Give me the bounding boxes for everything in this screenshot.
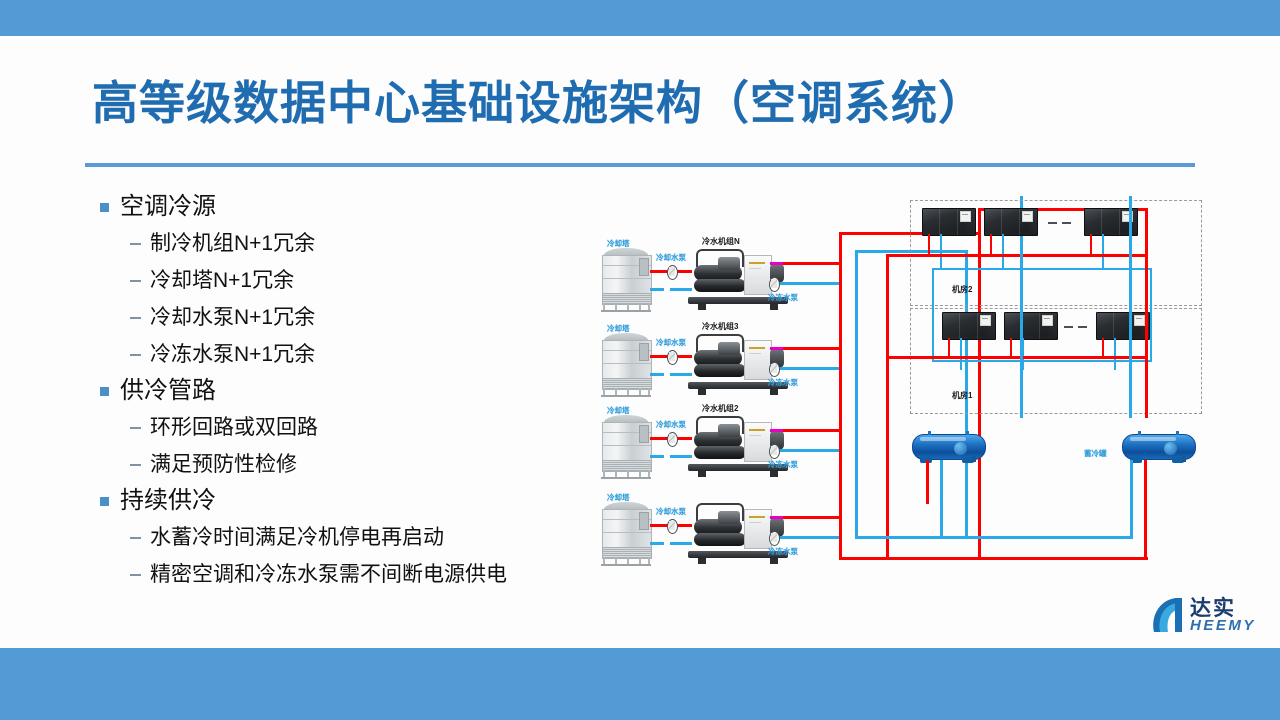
dash-bullet-icon [130,354,141,356]
magenta-marker-pipe [770,262,784,265]
tank-cold-down [1130,460,1133,538]
chilled-hot-return-pipe [783,429,841,432]
square-bullet-icon [100,203,109,212]
cooling-water-pump-icon [666,350,677,363]
crac-hot-drop [1102,338,1104,358]
hall-hot-left-riser [886,254,889,560]
crac-unit [922,208,976,236]
chilled-supply-pipe [778,367,841,370]
condenser-return-pipe [650,288,664,291]
magenta-marker-pipe [770,347,784,350]
cooling-tower-icon [600,248,652,312]
crac-cold-drop [1114,338,1116,370]
bullet-level1-label: 持续供冷 [120,484,216,518]
bullet-level2: 制冷机组N+1冗余 [96,226,616,262]
chilled-supply-pipe [778,449,841,452]
room2-hot-header [886,254,1148,257]
bullet-level1-label: 空调冷源 [120,190,216,224]
slide-canvas: 高等级数据中心基础设施架构（空调系统） 空调冷源 制冷机组N+1冗余 冷却塔N+… [0,0,1280,720]
condenser-return-pipe [650,373,664,376]
bullet-level2-label: 精密空调和冷冻水泵需不间断电源供电 [150,557,507,593]
square-bullet-icon [100,497,109,506]
bullet-level2: 精密空调和冷冻水泵需不间断电源供电 [96,557,616,593]
crac-cold-drop [960,338,962,370]
cooling-water-pump-icon [666,519,677,532]
dash-bullet-icon [130,427,141,429]
chilled-supply-pipe [778,282,841,285]
chilled-water-pump-icon [768,531,779,544]
crac-cold-drop [940,234,942,270]
chilled-pump-label: 冷冻水泵 [768,546,798,557]
hall-cold-right-riser [1129,196,1132,418]
crac-unit [984,208,1038,236]
magenta-marker-pipe [770,429,784,432]
square-bullet-icon [100,387,109,396]
bullet-level2: 冷却水泵N+1冗余 [96,300,616,336]
bullet-level2: 冷冻水泵N+1冗余 [96,337,616,373]
chilled-pump-label: 冷冻水泵 [768,377,798,388]
cooling-water-pump-icon [666,432,677,445]
crac-hot-drop [928,234,930,256]
magenta-marker-pipe [770,516,784,519]
hall-cold-riser [1020,250,1023,418]
ellipsis-dash-icon [1078,326,1087,328]
chilled-supply-pipe [778,536,841,539]
chiller-3-label: 冷水机组3 [702,321,738,332]
crac-unit [1096,312,1150,340]
chilled-hot-return-pipe [783,516,841,519]
bullet-level2-label: 满足预防性检修 [150,447,297,483]
crac-unit [1004,312,1058,340]
cooling-tower-icon [600,502,652,566]
dash-bullet-icon [130,243,141,245]
dash-bullet-icon [130,317,141,319]
cooling-pump-label: 冷却水泵 [656,506,686,517]
bullet-level2-label: 制冷机组N+1冗余 [150,226,315,262]
bullet-level2-label: 环形回路或双回路 [150,410,318,446]
chiller-n-label: 冷水机组N [702,236,740,247]
ellipsis-dash-icon [1062,222,1071,224]
crac-cold-drop [1002,234,1004,270]
bullet-level2-label: 冷却水泵N+1冗余 [150,300,315,336]
cooling-water-pump-icon [666,265,677,278]
top-accent-band [0,0,1280,36]
tank-cold-down [940,460,943,536]
bullet-level2: 冷却塔N+1冗余 [96,263,616,299]
title-underline [85,163,1195,167]
dash-bullet-icon [130,280,141,282]
bullet-list: 空调冷源 制冷机组N+1冗余 冷却塔N+1冗余 冷却水泵N+1冗余 冷冻水泵N+… [96,190,616,594]
dash-bullet-icon [130,574,141,576]
ellipsis-dash-icon [1048,222,1057,224]
cooling-tower-icon [600,415,652,479]
bottom-accent-band [0,648,1280,720]
room1-hot-header [886,356,1148,359]
crac-unit [942,312,996,340]
bullet-level2-label: 水蓄冷时间满足冷机停电再启动 [150,520,444,556]
condenser-return-pipe [670,373,692,376]
condenser-return-pipe [670,288,692,291]
chilled-water-pump-icon [768,444,779,457]
cooling-tower-icon [600,333,652,397]
bullet-level2-label: 冷却塔N+1冗余 [150,263,294,299]
bullet-level1: 持续供冷 [96,484,616,518]
crac-cold-drop [1102,234,1104,270]
bullet-level1-label: 供冷管路 [120,374,216,408]
chilled-pump-label: 冷冻水泵 [768,459,798,470]
chilled-water-pump-icon [768,362,779,375]
cooling-pump-label: 冷却水泵 [656,419,686,430]
chilled-water-pump-icon [768,277,779,290]
tank-hot-down [926,460,929,504]
chilled-pump-label: 冷冻水泵 [768,292,798,303]
condenser-return-pipe [650,455,664,458]
chilled-hot-return-pipe [783,347,841,350]
machine-room-1-label: 机房1 [952,390,972,401]
storage-tank-label: 蓄冷罐 [1084,448,1107,459]
page-title: 高等级数据中心基础设施架构（空调系统） [92,68,1192,138]
bullet-level2: 水蓄冷时间满足冷机停电再启动 [96,520,616,556]
chilled-hot-return-pipe [783,262,841,265]
brand-logo: 达实 HEEMY [1148,592,1266,640]
primary-hot-header-riser [839,232,842,560]
hall-hot-riser [1145,208,1148,418]
bullet-level1: 空调冷源 [96,190,616,224]
dash-bullet-icon [130,464,141,466]
thermal-storage-tank-icon [910,430,986,464]
ellipsis-dash-icon [1064,326,1073,328]
thermal-storage-tank-icon [1120,430,1196,464]
condenser-return-pipe [650,542,664,545]
tank-hot-down [1144,460,1147,558]
bottom-cold-return-run [855,536,1133,539]
crac-hot-drop [990,234,992,256]
primary-cold-header-riser [855,250,858,538]
condenser-return-pipe [670,455,692,458]
dash-bullet-icon [130,537,141,539]
condenser-return-pipe [670,542,692,545]
crac-hot-drop [1090,234,1092,256]
bullet-level1: 供冷管路 [96,374,616,408]
cooling-pump-label: 冷却水泵 [656,252,686,263]
chiller-2-label: 冷水机组2 [702,403,738,414]
bullet-level2-label: 冷冻水泵N+1冗余 [150,337,315,373]
crac-hot-drop [1010,338,1012,358]
bullet-level2: 环形回路或双回路 [96,410,616,446]
cooling-pump-label: 冷却水泵 [656,337,686,348]
crac-hot-drop [948,338,950,358]
logo-en-text: HEEMY [1190,617,1256,634]
bottom-hot-return-run [886,557,1148,560]
hvac-schematic-diagram: 冷却塔 冷却水泵 冷水机组N 冷冻水泵 冷却塔 冷却 [592,192,1212,592]
bullet-level2: 满足预防性检修 [96,447,616,483]
